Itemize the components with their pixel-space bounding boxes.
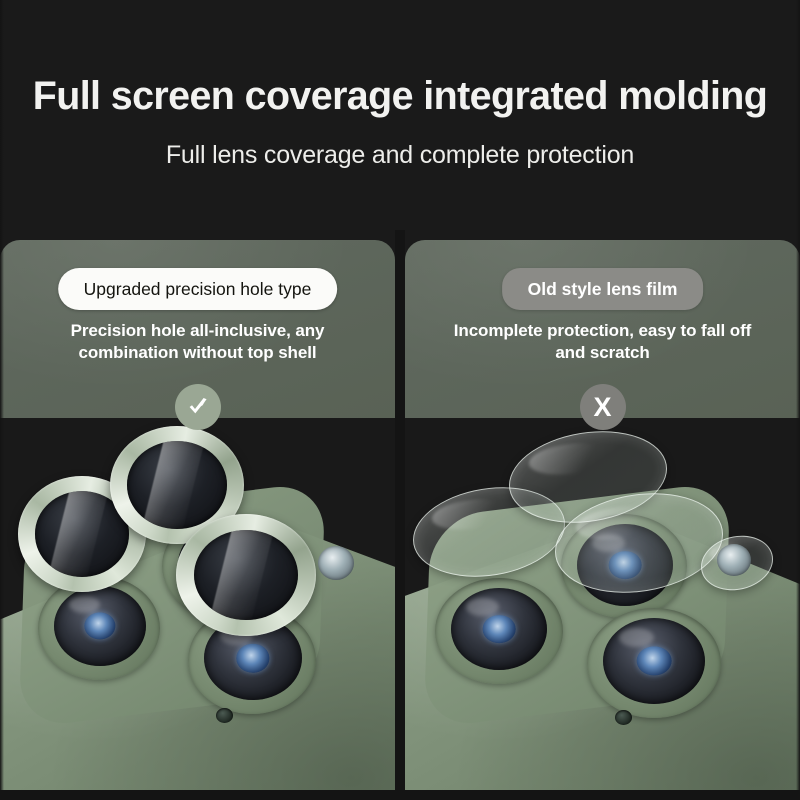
lens-glass-right-3	[603, 618, 705, 704]
description-oldstyle: Incomplete protection, easy to fall off …	[405, 320, 800, 365]
microphone-right	[615, 710, 632, 725]
header-band: Full screen coverage integrated molding …	[0, 0, 800, 210]
lens-glass-left-1	[54, 586, 146, 666]
product-comparison-image: Full screen coverage integrated molding …	[0, 0, 800, 800]
page-subtitle: Full lens coverage and complete protecti…	[0, 141, 800, 170]
microphone-left	[216, 708, 233, 723]
right-edge-vignette	[796, 0, 800, 800]
lens-protector-ring-3	[176, 514, 316, 636]
left-edge-vignette	[0, 0, 4, 800]
flash-right	[717, 544, 751, 576]
badge-label-upgraded: Upgraded precision hole type	[58, 268, 338, 310]
cross-glyph: X	[593, 394, 611, 421]
flash-left	[318, 546, 354, 580]
cross-icon: X	[580, 384, 626, 430]
panel-divider	[395, 230, 405, 800]
page-title: Full screen coverage integrated molding	[6, 74, 794, 119]
check-icon	[175, 384, 221, 430]
photo-upgraded-lens-protector	[0, 418, 395, 800]
bottom-edge	[0, 790, 800, 800]
photo-oldstyle-lens-film	[405, 418, 800, 800]
description-upgraded: Precision hole all-inclusive, any combin…	[0, 320, 395, 365]
lens-glass-right-1	[451, 588, 547, 670]
badge-label-oldstyle: Old style lens film	[502, 268, 704, 310]
